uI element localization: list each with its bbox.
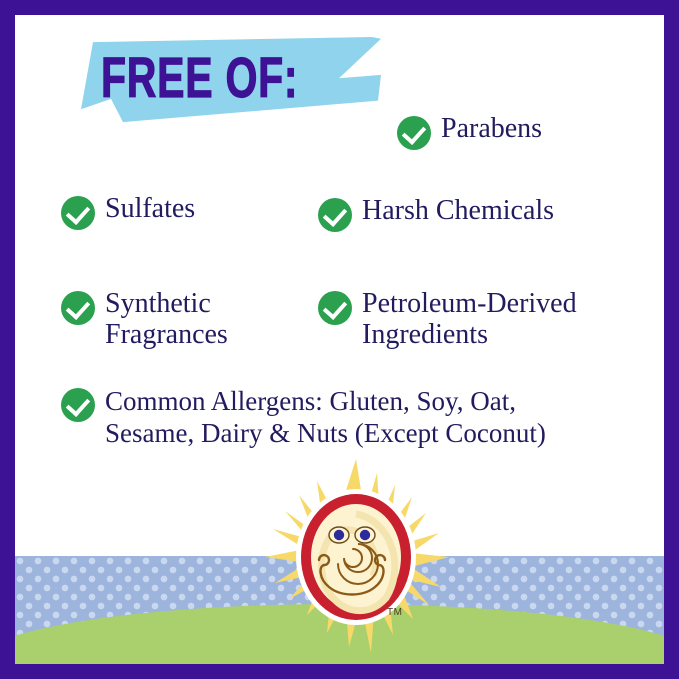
checklist-item-label: Common Allergens: Gluten, Soy, Oat, Sesa… bbox=[105, 385, 546, 449]
checklist-item-label: Sulfates bbox=[105, 193, 195, 224]
free-of-banner: FREE OF: bbox=[81, 37, 381, 123]
product-info-card: FREE OF: Parabens Sulfates Harsh Chemica… bbox=[0, 0, 679, 679]
checklist-item-label: Harsh Chemicals bbox=[362, 195, 554, 226]
green-check-circle-icon bbox=[318, 198, 352, 232]
checklist-item-petroleum-derived: Petroleum-Derived Ingredients bbox=[318, 288, 577, 350]
checklist-item-label: Parabens bbox=[441, 113, 542, 144]
card-inner: FREE OF: Parabens Sulfates Harsh Chemica… bbox=[15, 15, 664, 664]
green-check-circle-icon bbox=[318, 291, 352, 325]
green-check-circle-icon bbox=[61, 388, 95, 422]
green-check-circle-icon bbox=[61, 196, 95, 230]
smiling-sun-logo bbox=[261, 457, 451, 657]
checklist-item-label: Petroleum-Derived Ingredients bbox=[362, 288, 577, 350]
checklist-item-common-allergens: Common Allergens: Gluten, Soy, Oat, Sesa… bbox=[61, 385, 546, 449]
green-check-circle-icon bbox=[397, 116, 431, 150]
checklist-item-parabens: Parabens bbox=[397, 113, 542, 150]
green-check-circle-icon bbox=[61, 291, 95, 325]
checklist-item-sulfates: Sulfates bbox=[61, 193, 195, 230]
banner-title: FREE OF: bbox=[101, 47, 288, 109]
checklist-item-harsh-chemicals: Harsh Chemicals bbox=[318, 195, 554, 232]
checklist-item-label: Synthetic Fragrances bbox=[105, 288, 228, 350]
trademark-symbol: TM bbox=[387, 607, 402, 618]
checklist-item-synthetic-fragrances: Synthetic Fragrances bbox=[61, 288, 228, 350]
